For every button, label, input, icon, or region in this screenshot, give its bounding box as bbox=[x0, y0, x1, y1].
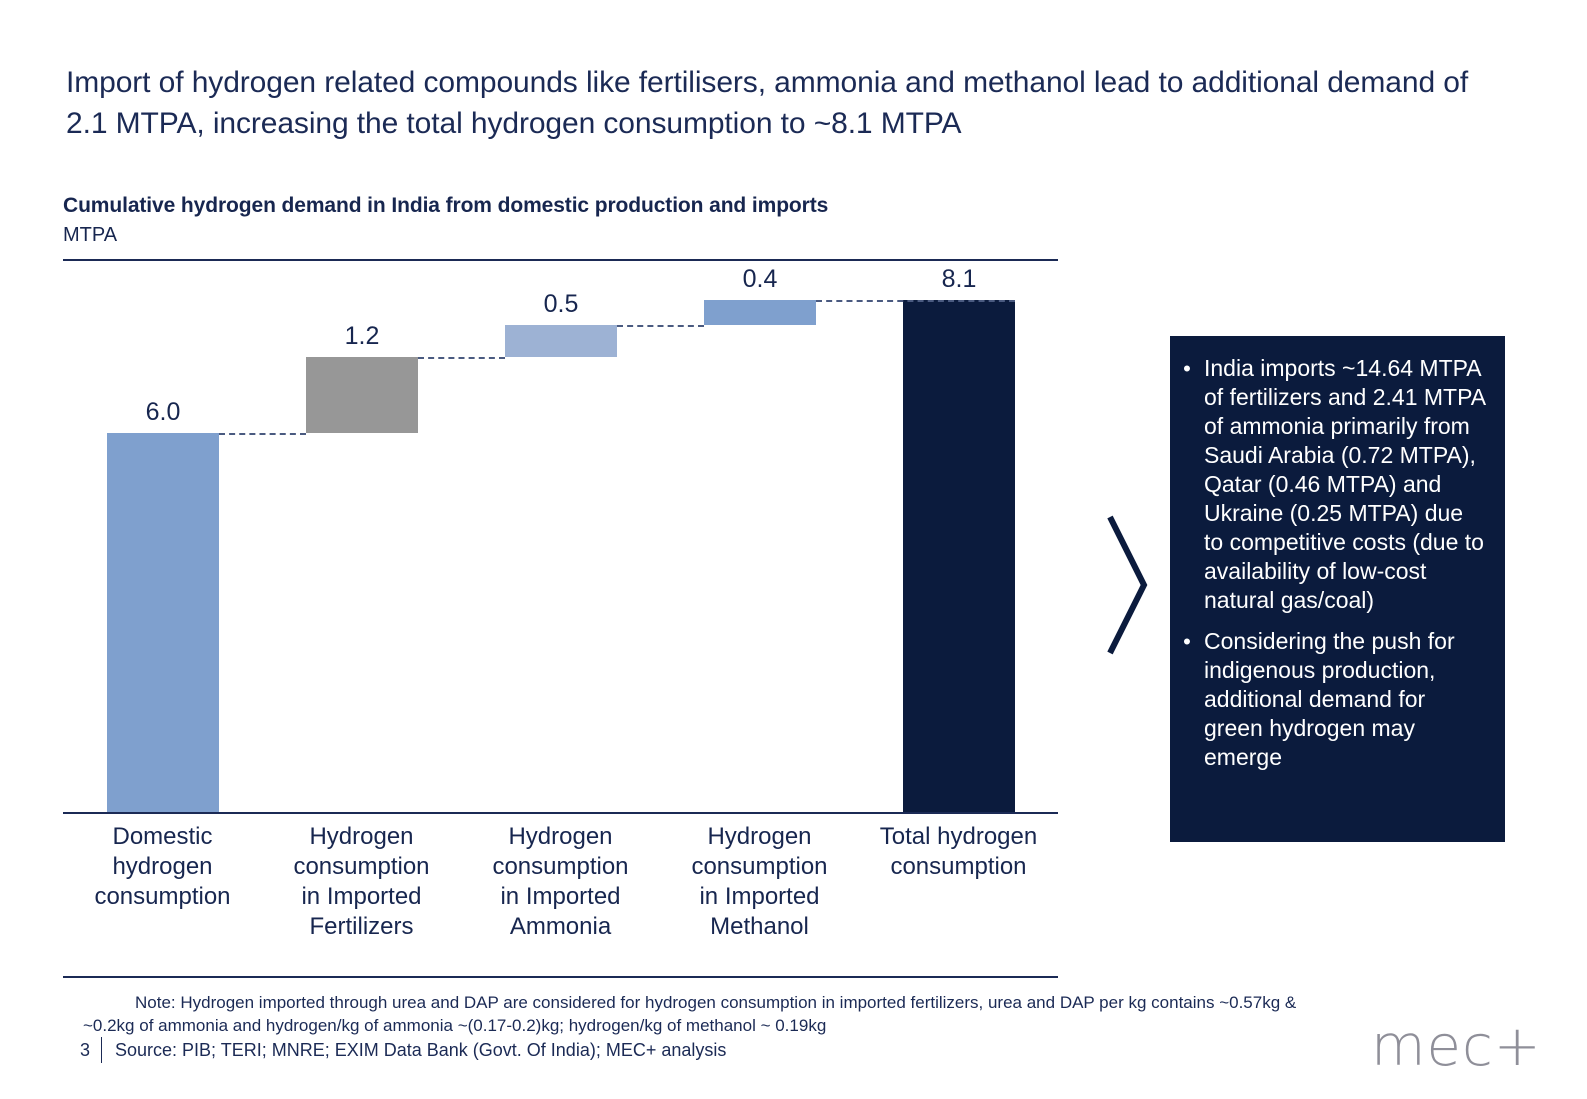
chart-bar-value-label: 0.5 bbox=[505, 289, 617, 319]
chart-category-label-line: consumption bbox=[859, 852, 1058, 882]
chart-category-label: Total hydrogenconsumption bbox=[859, 822, 1058, 882]
chart-category-label-line: consumption bbox=[461, 852, 660, 882]
bullet-point-icon: • bbox=[1170, 354, 1204, 383]
chart-bar-rect bbox=[704, 300, 816, 325]
chart-category-label-line: Hydrogen bbox=[461, 822, 660, 852]
chart-category-label: Domestichydrogenconsumption bbox=[63, 822, 262, 912]
chart-header: Cumulative hydrogen demand in India from… bbox=[63, 192, 1058, 249]
waterfall-chart: 6.01.20.50.48.1 bbox=[63, 300, 1058, 812]
chart-category-label-line: hydrogen bbox=[63, 852, 262, 882]
chart-category-label: Hydrogenconsumptionin ImportedMethanol bbox=[660, 822, 859, 942]
page-title: Import of hydrogen related compounds lik… bbox=[66, 62, 1486, 144]
chevron-right-icon bbox=[1082, 505, 1172, 665]
chart-bar-rect bbox=[903, 300, 1015, 812]
chart-category-label-line: Fertilizers bbox=[262, 912, 461, 942]
chart-bar: 6.0 bbox=[107, 300, 219, 812]
header-divider bbox=[63, 259, 1058, 261]
chart-category-labels: DomestichydrogenconsumptionHydrogenconsu… bbox=[63, 822, 1058, 957]
insights-panel: •India imports ~14.64 MTPA of fertilizer… bbox=[1170, 336, 1505, 842]
chart-bar: 1.2 bbox=[306, 300, 418, 812]
chart-connector-line bbox=[219, 433, 306, 435]
chart-bar: 0.4 bbox=[704, 300, 816, 812]
chart-axis-baseline bbox=[63, 812, 1058, 814]
chart-category-label-line: Hydrogen bbox=[660, 822, 859, 852]
chart-bar-value-label: 1.2 bbox=[306, 321, 418, 351]
chart-category-label: Hydrogenconsumptionin ImportedAmmonia bbox=[461, 822, 660, 942]
footer-divider bbox=[63, 976, 1058, 978]
chart-category-label-line: in Imported bbox=[660, 882, 859, 912]
footnote-line-2: ~0.2kg of ammonia and hydrogen/kg of amm… bbox=[83, 1014, 826, 1037]
chart-connector-line bbox=[617, 325, 704, 327]
chart-category-label: Hydrogenconsumptionin ImportedFertilizer… bbox=[262, 822, 461, 942]
chart-bar-rect bbox=[306, 357, 418, 433]
chart-category-label-line: Hydrogen bbox=[262, 822, 461, 852]
insight-bullet: •India imports ~14.64 MTPA of fertilizer… bbox=[1170, 354, 1489, 615]
source-line: Source: PIB; TERI; MNRE; EXIM Data Bank … bbox=[115, 1038, 726, 1062]
chart-category-label-line: Domestic bbox=[63, 822, 262, 852]
chart-bar-rect bbox=[505, 325, 617, 357]
chart-category-label-line: consumption bbox=[660, 852, 859, 882]
chart-bar-value-label: 6.0 bbox=[107, 397, 219, 427]
chart-subtitle: Cumulative hydrogen demand in India from… bbox=[63, 192, 1058, 220]
chart-units-label: MTPA bbox=[63, 222, 1058, 249]
chart-bar-rect bbox=[107, 433, 219, 812]
chart-category-label-line: consumption bbox=[262, 852, 461, 882]
chart-bar: 0.5 bbox=[505, 300, 617, 812]
chart-bar: 8.1 bbox=[903, 300, 1015, 812]
chart-bar-value-label: 0.4 bbox=[704, 264, 816, 294]
chart-category-label-line: consumption bbox=[63, 882, 262, 912]
chart-bar-value-label: 8.1 bbox=[903, 264, 1015, 294]
chart-category-label-line: in Imported bbox=[262, 882, 461, 912]
insight-bullet-text: India imports ~14.64 MTPA of fertilizers… bbox=[1204, 354, 1489, 615]
insight-bullet-text: Considering the push for indigenous prod… bbox=[1204, 627, 1489, 772]
chart-connector-line bbox=[418, 357, 505, 359]
page-number: 3 bbox=[80, 1038, 90, 1062]
insight-bullet: •Considering the push for indigenous pro… bbox=[1170, 627, 1489, 772]
bullet-point-icon: • bbox=[1170, 627, 1204, 656]
brand-logo: mec+ bbox=[1371, 1017, 1542, 1077]
chart-category-label-line: Total hydrogen bbox=[859, 822, 1058, 852]
chart-category-label-line: in Imported bbox=[461, 882, 660, 912]
chart-connector-line bbox=[816, 300, 1015, 302]
chart-category-label-line: Ammonia bbox=[461, 912, 660, 942]
footnote-line-1: Note: Hydrogen imported through urea and… bbox=[135, 991, 1296, 1014]
chart-category-label-line: Methanol bbox=[660, 912, 859, 942]
page-number-divider bbox=[101, 1037, 102, 1063]
